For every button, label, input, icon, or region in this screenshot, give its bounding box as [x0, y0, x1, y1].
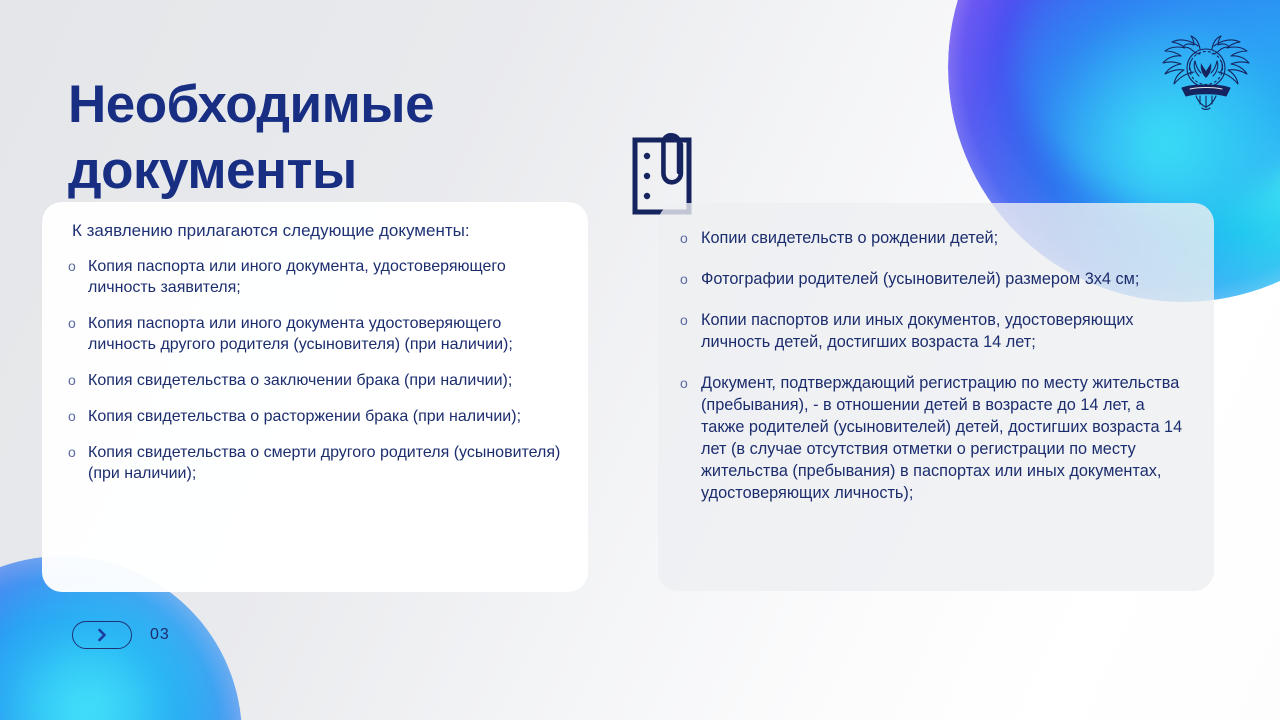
page-title: Необходимые документы — [68, 72, 688, 204]
next-slide-button[interactable] — [72, 621, 132, 649]
list-item: Копия свидетельства о расторжении брака … — [64, 406, 566, 427]
left-documents-card: К заявлению прилагаются следующие докуме… — [42, 202, 588, 592]
right-document-list: Копии свидетельств о рождении детей; Фот… — [674, 227, 1192, 504]
list-item: Копия паспорта или иного документа удост… — [64, 313, 566, 355]
list-item: Копии свидетельств о рождении детей; — [674, 227, 1192, 249]
right-documents-card: Копии свидетельств о рождении детей; Фот… — [658, 203, 1214, 591]
page-number: 03 — [150, 626, 170, 644]
list-item: Копия свидетельства о смерти другого род… — [64, 442, 566, 484]
pager: 03 — [72, 621, 170, 649]
double-headed-eagle-emblem-icon — [1156, 16, 1256, 116]
left-document-list: Копия паспорта или иного документа, удос… — [64, 256, 566, 484]
list-item: Копия паспорта или иного документа, удос… — [64, 256, 566, 298]
list-item: Документ, подтверждающий регистрацию по … — [674, 372, 1192, 504]
left-card-heading: К заявлению прилагаются следующие докуме… — [72, 220, 566, 242]
list-item: Копии паспортов или иных документов, удо… — [674, 309, 1192, 353]
list-item: Копия свидетельства о заключении брака (… — [64, 370, 566, 391]
chevron-right-icon — [94, 627, 110, 643]
list-item: Фотографии родителей (усыновителей) разм… — [674, 268, 1192, 290]
